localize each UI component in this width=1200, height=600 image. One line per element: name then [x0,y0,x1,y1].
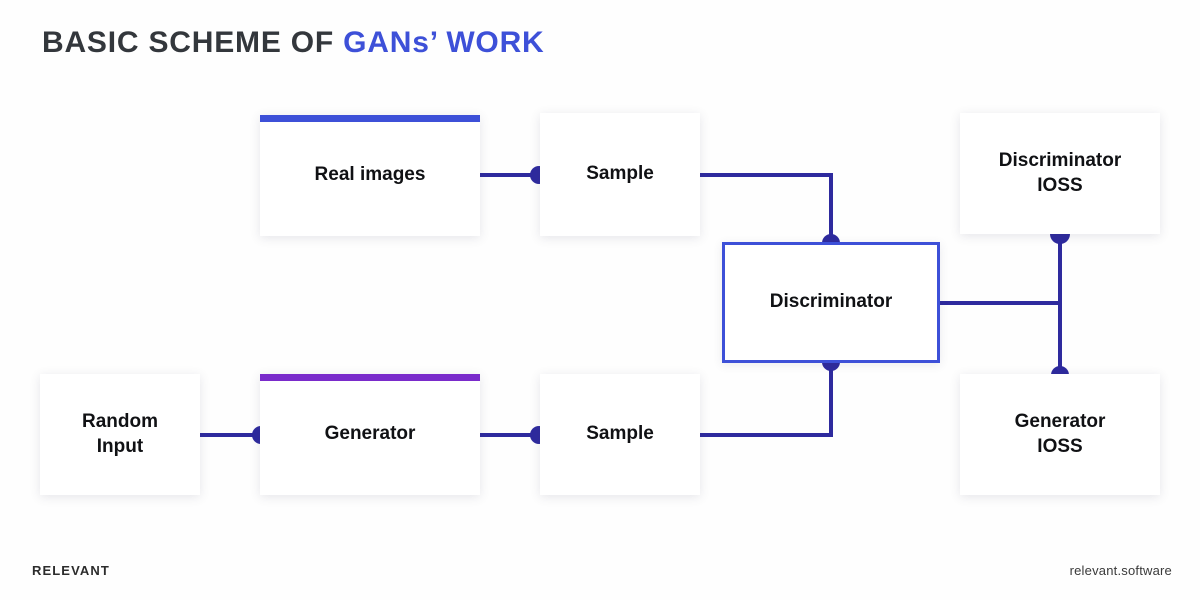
node-generator-label: Generator [315,422,426,446]
node-sample-real[interactable]: Sample [540,113,700,236]
node-generator-loss-line1: Generator [1015,411,1106,432]
node-generator[interactable]: Generator [260,374,480,495]
edge-sample-to-discriminator [700,175,831,244]
node-sample-fake[interactable]: Sample [540,374,700,495]
node-discriminator-loss-label: Discriminator IOSS [989,149,1131,198]
node-discriminator[interactable]: Discriminator [722,242,940,363]
node-discriminator-label: Discriminator [760,290,902,314]
node-discriminator-loss-line1: Discriminator [999,150,1121,171]
node-real-images-label: Real images [305,163,436,187]
node-generator-loss-label: Generator IOSS [1005,410,1116,459]
node-random-input[interactable]: Random Input [40,374,200,495]
diagram-canvas: BASIC SCHEME OF GANs’ WORK [0,0,1200,600]
node-discriminator-loss[interactable]: Discriminator IOSS [960,113,1160,234]
footer-website: relevant.software [1070,563,1172,578]
node-sample-fake-label: Sample [576,422,664,446]
connector-layer [0,0,1200,600]
edge-sample-fake-to-discriminator [700,362,831,435]
node-discriminator-loss-line2: IOSS [1037,175,1082,196]
node-generator-loss[interactable]: Generator IOSS [960,374,1160,495]
node-random-input-label: Random Input [72,410,168,459]
node-generator-loss-line2: IOSS [1037,436,1082,457]
node-sample-real-label: Sample [576,162,664,186]
accent-bar-purple [260,374,480,381]
node-random-input-line2: Input [97,436,143,457]
node-random-input-line1: Random [82,411,158,432]
accent-bar-blue [260,115,480,122]
node-real-images[interactable]: Real images [260,115,480,236]
footer-brand: RELEVANT [32,563,110,578]
